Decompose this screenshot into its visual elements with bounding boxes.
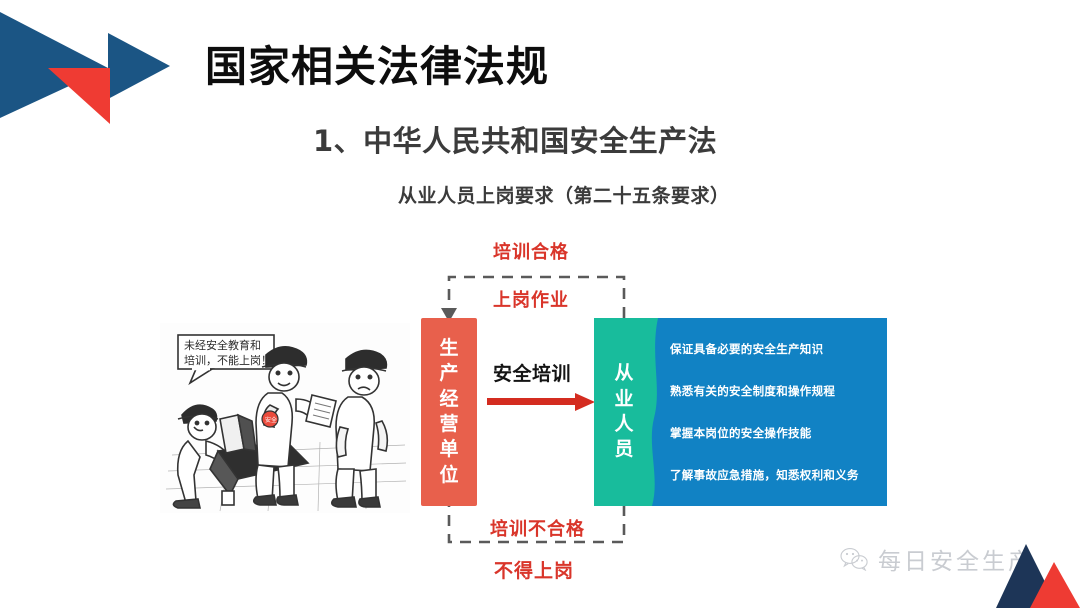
pass-label: 培训合格 bbox=[493, 238, 569, 264]
list-item: 掌握本岗位的安全操作技能 bbox=[666, 425, 887, 441]
worker-cartoon-illustration: 未经安全教育和 培训，不能上岗！ bbox=[160, 323, 410, 513]
logo-triangle-red bbox=[48, 68, 110, 124]
requirements-panel: 保证具备必要的安全生产知识 熟悉有关的安全制度和操作规程 掌握本岗位的安全操作技… bbox=[644, 318, 887, 506]
no-duty-label: 不得上岗 bbox=[494, 556, 574, 583]
page-subtitle: 1、中华人民共和国安全生产法 bbox=[313, 127, 717, 156]
svg-text:培训，不能上岗！: 培训，不能上岗！ bbox=[184, 353, 272, 367]
left-entity-block: 生 产 经 营 单 位 bbox=[421, 318, 477, 506]
left-entity-char: 位 bbox=[439, 463, 458, 488]
requirements-list: 保证具备必要的安全生产知识 熟悉有关的安全制度和操作规程 掌握本岗位的安全操作技… bbox=[666, 318, 887, 506]
left-entity-char: 经 bbox=[439, 387, 458, 412]
svg-text:未经安全教育和: 未经安全教育和 bbox=[184, 338, 261, 352]
logo-triangle-blue-small bbox=[108, 33, 170, 99]
list-item: 熟悉有关的安全制度和操作规程 bbox=[666, 383, 887, 399]
corner-logo bbox=[0, 0, 180, 130]
training-arrow-icon bbox=[487, 393, 595, 411]
left-entity-char: 单 bbox=[439, 437, 458, 462]
wechat-icon bbox=[840, 547, 870, 571]
left-entity-char: 生 bbox=[439, 336, 458, 361]
left-entity-char: 营 bbox=[439, 412, 458, 437]
page-subsubtitle: 从业人员上岗要求（第二十五条要求） bbox=[398, 187, 730, 206]
left-entity-char: 产 bbox=[439, 361, 458, 386]
slide-root: 国家相关法律法规 1、中华人民共和国安全生产法 从业人员上岗要求（第二十五条要求… bbox=[0, 0, 1080, 608]
wave-divider-icon bbox=[644, 318, 666, 506]
right-entity-char: 人 bbox=[614, 412, 633, 437]
training-arrow-label: 安全培训 bbox=[493, 359, 571, 386]
page-title: 国家相关法律法规 bbox=[205, 46, 549, 88]
right-entity-char: 员 bbox=[614, 437, 633, 462]
svg-text:安全: 安全 bbox=[265, 416, 277, 424]
on-duty-label: 上岗作业 bbox=[493, 286, 569, 312]
right-entity-char: 业 bbox=[614, 387, 633, 412]
fail-label: 培训不合格 bbox=[490, 515, 585, 541]
list-item: 保证具备必要的安全生产知识 bbox=[666, 341, 887, 357]
corner-triangles-bottom-right bbox=[996, 542, 1080, 608]
right-entity-char: 从 bbox=[614, 361, 633, 386]
list-item: 了解事故应急措施，知悉权利和义务 bbox=[666, 467, 887, 483]
